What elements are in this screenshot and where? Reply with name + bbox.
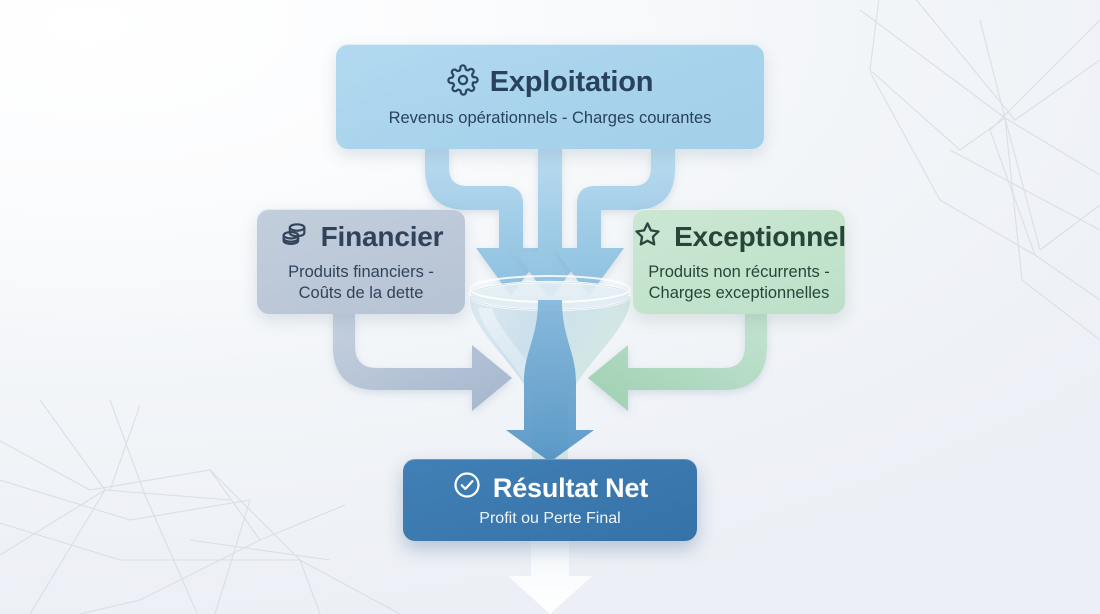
card-subtitle-line2: Charges exceptionnelles (648, 283, 830, 304)
arrow-result-output (508, 541, 592, 614)
diagram-canvas: Exploitation Revenus opérationnels - Cha… (0, 0, 1100, 614)
card-subtitle-line1: Produits non récurrents - (648, 262, 830, 283)
card-subtitle: Produits non récurrents - Charges except… (648, 262, 830, 304)
node-card-resultat-net[interactable]: Résultat Net Profit ou Perte Final (403, 459, 697, 541)
card-subtitle-line2: Coûts de la dette (288, 283, 434, 304)
card-title: Résultat Net (493, 474, 648, 502)
card-subtitle: Profit ou Perte Final (479, 509, 620, 529)
node-card-financier[interactable]: Financier Produits financiers - Coûts de… (257, 209, 465, 314)
card-subtitle: Produits financiers - Coûts de la dette (288, 262, 434, 304)
card-title: Exceptionnel (674, 222, 846, 251)
card-header: Financier (279, 219, 444, 255)
card-header: Exceptionnel (632, 219, 846, 255)
node-card-exploitation[interactable]: Exploitation Revenus opérationnels - Cha… (336, 44, 764, 149)
gear-icon (447, 64, 479, 101)
card-subtitle: Revenus opérationnels - Charges courante… (389, 108, 712, 129)
card-subtitle-line1: Produits financiers - (288, 262, 434, 283)
card-header: Résultat Net (452, 470, 648, 505)
node-card-exceptionnel[interactable]: Exceptionnel Produits non récurrents - C… (633, 209, 845, 314)
card-title: Exploitation (490, 67, 654, 97)
card-title: Financier (321, 222, 444, 251)
star-icon (632, 219, 663, 255)
check-circle-icon (452, 470, 482, 505)
card-header: Exploitation (447, 64, 654, 101)
coins-icon (279, 219, 310, 255)
